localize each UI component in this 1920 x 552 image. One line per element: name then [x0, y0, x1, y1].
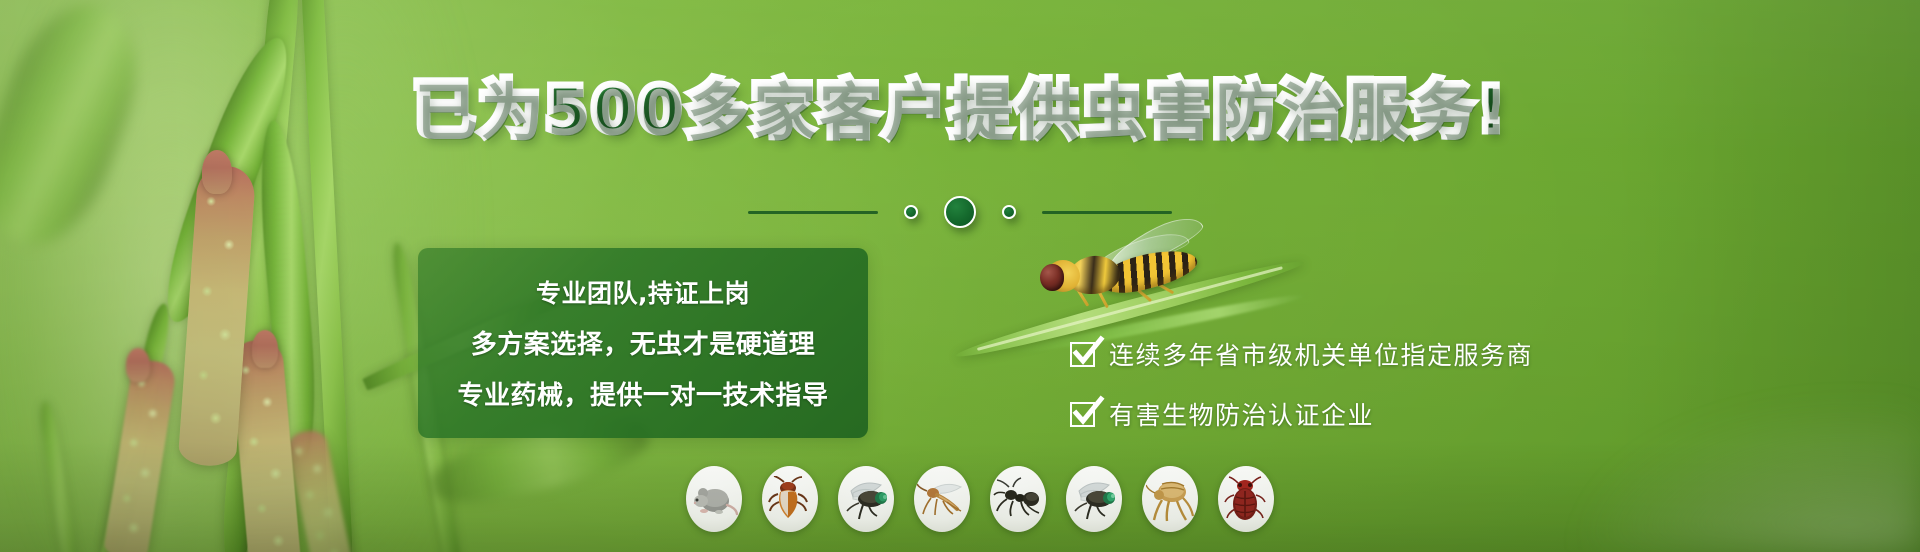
pest-icon-ant[interactable]	[990, 466, 1046, 532]
pest-icon-rat[interactable]	[686, 466, 742, 532]
selling-point-line-3: 专业药械，提供一对一技术指导	[457, 375, 828, 412]
pest-icon-mosquito[interactable]	[914, 466, 970, 532]
selling-points-panel: 专业团队,持证上岗 多方案选择，无虫才是硬道理 专业药械，提供一对一技术指导	[418, 248, 868, 438]
selling-point-line-1: 专业团队,持证上岗	[536, 274, 750, 310]
hoverfly-eye	[1040, 264, 1064, 291]
credential-label: 连续多年省市级机关单位指定服务商	[1109, 336, 1533, 372]
credential-label: 有害生物防治认证企业	[1109, 396, 1374, 432]
pest-types-row	[686, 466, 1274, 532]
divider-dot-small-left	[904, 205, 918, 219]
credentials-list: 连续多年省市级机关单位指定服务商 有害生物防治认证企业	[1070, 336, 1533, 432]
divider-line-left	[748, 211, 878, 214]
credential-item: 有害生物防治认证企业	[1070, 396, 1533, 432]
banner-headline: 已为500多家客户提供虫害防治服务!	[412, 78, 1508, 141]
banner-headline-text: 已为500多家客户提供虫害防治服务!	[412, 73, 1508, 146]
divider-dot-large	[944, 196, 976, 228]
headline-container: 已为500多家客户提供虫害防治服务!	[0, 78, 1920, 141]
divider-dot-small-right	[1002, 205, 1016, 219]
credential-item: 连续多年省市级机关单位指定服务商	[1070, 336, 1533, 372]
selling-point-line-2: 多方案选择，无虫才是硬道理	[471, 324, 816, 361]
pest-icon-flea[interactable]	[1142, 466, 1198, 532]
pest-icon-blowfly[interactable]	[1066, 466, 1122, 532]
checkbox-checked-icon	[1070, 342, 1095, 367]
pest-icon-fly[interactable]	[838, 466, 894, 532]
decorative-divider	[0, 196, 1920, 228]
pest-icon-cockroach[interactable]	[762, 466, 818, 532]
divider-line-right	[1042, 211, 1172, 214]
hoverfly-photo	[1028, 236, 1218, 322]
pest-icon-bedbug[interactable]	[1218, 466, 1274, 532]
checkbox-checked-icon	[1070, 402, 1095, 427]
pest-control-banner: 已为500多家客户提供虫害防治服务! 专业团队,持证上岗 多方案选择，无虫才是硬…	[0, 0, 1920, 552]
